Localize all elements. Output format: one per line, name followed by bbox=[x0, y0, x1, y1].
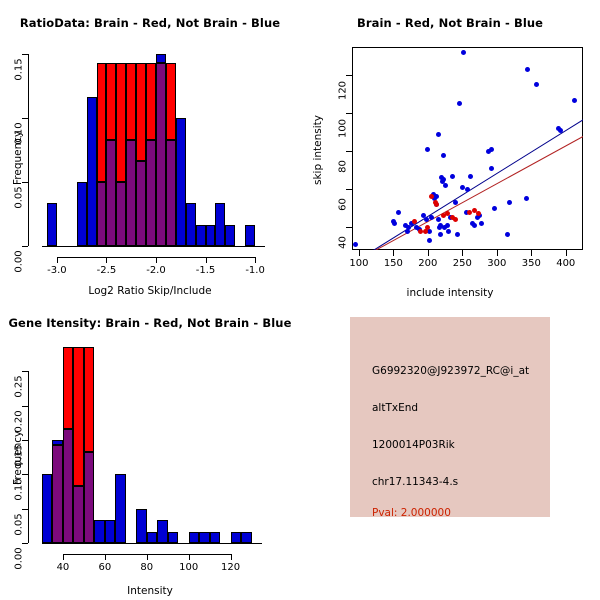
x-tick-label: 100 bbox=[179, 562, 198, 573]
histogram-bar bbox=[116, 63, 126, 182]
histogram-bar bbox=[63, 429, 73, 543]
scatter-point bbox=[479, 221, 484, 226]
scatter-point bbox=[436, 132, 441, 137]
scatter-point bbox=[468, 174, 473, 179]
ratio-histogram-panel: RatioData: Brain - Red, Not Brain - Blue… bbox=[0, 0, 300, 300]
histogram-bar bbox=[105, 520, 115, 543]
histogram-bar bbox=[147, 532, 157, 543]
event-type-text: altTxEnd bbox=[372, 402, 418, 414]
histogram-bar bbox=[126, 140, 136, 246]
y-axis-line bbox=[28, 54, 29, 246]
x-tick bbox=[106, 257, 107, 263]
scatter-point bbox=[441, 177, 446, 182]
x-tick-label: -1.5 bbox=[196, 265, 216, 276]
scatter-point bbox=[445, 223, 450, 228]
y-tick-label: 0.10 bbox=[14, 473, 25, 507]
x-tick bbox=[393, 250, 394, 256]
x-tick bbox=[255, 257, 256, 263]
plot-grid: RatioData: Brain - Red, Not Brain - Blue… bbox=[0, 0, 600, 600]
gene-x-axis-title: Intensity bbox=[0, 585, 300, 597]
histogram-bar bbox=[106, 63, 116, 139]
scatter-point bbox=[427, 238, 432, 243]
histogram-bar bbox=[42, 474, 52, 543]
scatter-point bbox=[443, 183, 448, 188]
y-axis-line bbox=[28, 371, 29, 543]
y-tick-label: 0.00 bbox=[14, 542, 25, 576]
x-tick bbox=[497, 250, 498, 256]
ratio-histogram-title: RatioData: Brain - Red, Not Brain - Blue bbox=[0, 16, 300, 30]
scatter-point bbox=[453, 200, 458, 205]
x-tick-label: 100 bbox=[349, 258, 368, 269]
x-tick bbox=[189, 554, 190, 560]
x-axis-baseline bbox=[42, 543, 262, 544]
gene-symbol-text: 1200014P03Rik bbox=[372, 439, 455, 451]
x-tick-label: 200 bbox=[418, 258, 437, 269]
histogram-bar bbox=[136, 509, 146, 543]
histogram-bar bbox=[215, 203, 225, 246]
x-tick-label: 60 bbox=[98, 562, 111, 573]
histogram-bar bbox=[225, 225, 235, 246]
histogram-bar bbox=[166, 140, 176, 246]
x-tick-label: -2.0 bbox=[146, 265, 166, 276]
scatter-point bbox=[457, 101, 462, 106]
x-tick bbox=[63, 554, 64, 560]
histogram-bar bbox=[168, 532, 178, 543]
histogram-bar bbox=[63, 347, 73, 429]
x-tick-label: 150 bbox=[384, 258, 403, 269]
histogram-bar bbox=[231, 532, 241, 543]
histogram-bar bbox=[115, 474, 125, 543]
gene-histogram-title: Gene Itensity: Brain - Red, Not Brain - … bbox=[0, 316, 300, 330]
x-tick bbox=[428, 250, 429, 256]
histogram-bar bbox=[47, 203, 57, 246]
x-tick-label: 80 bbox=[140, 562, 153, 573]
scatter-point bbox=[425, 225, 430, 230]
y-tick-label: 100 bbox=[338, 112, 349, 146]
histogram-bar bbox=[176, 118, 186, 246]
x-tick bbox=[462, 250, 463, 256]
histogram-bar bbox=[189, 532, 199, 543]
gene-histogram-panel: Gene Itensity: Brain - Red, Not Brain - … bbox=[0, 300, 300, 600]
scatter-point bbox=[392, 221, 397, 226]
scatter-point bbox=[425, 147, 430, 152]
y-tick-label: 0.05 bbox=[14, 181, 25, 215]
x-tick bbox=[57, 257, 58, 263]
histogram-bar bbox=[73, 486, 83, 543]
ratio-x-axis-title: Log2 Ratio Skip/Include bbox=[0, 285, 300, 297]
x-tick-label: -1.0 bbox=[245, 265, 265, 276]
histogram-bar bbox=[199, 532, 209, 543]
histogram-bar bbox=[94, 520, 104, 543]
scatter-point bbox=[446, 229, 451, 234]
scatter-point bbox=[489, 166, 494, 171]
x-tick bbox=[206, 257, 207, 263]
scatter-point bbox=[434, 202, 439, 207]
x-tick-label: -3.0 bbox=[47, 265, 67, 276]
scatter-point bbox=[525, 67, 530, 72]
y-tick-label: 120 bbox=[338, 74, 349, 108]
histogram-bar bbox=[136, 63, 146, 160]
scatter-point bbox=[455, 232, 460, 237]
histogram-bar bbox=[84, 347, 94, 452]
scatter-point bbox=[436, 217, 441, 222]
scatter-point bbox=[524, 196, 529, 201]
scatter-point bbox=[438, 232, 443, 237]
x-axis-baseline bbox=[42, 246, 265, 247]
scatter-point bbox=[441, 153, 446, 158]
x-tick-label: 250 bbox=[453, 258, 472, 269]
histogram-bar bbox=[186, 203, 196, 246]
scatter-point bbox=[505, 232, 510, 237]
y-tick-label: 80 bbox=[338, 150, 349, 184]
locus-text: chr17.11343-4.s bbox=[372, 476, 458, 488]
histogram-bar bbox=[84, 452, 94, 543]
y-tick-label: 40 bbox=[338, 226, 349, 260]
x-tick-label: 350 bbox=[522, 258, 541, 269]
histogram-bar bbox=[136, 161, 146, 246]
y-tick-label: 0.15 bbox=[14, 439, 25, 473]
scatter-point bbox=[434, 194, 439, 199]
x-tick bbox=[231, 554, 232, 560]
scatter-point bbox=[429, 215, 434, 220]
scatter-point bbox=[507, 200, 512, 205]
scatter-point bbox=[450, 174, 455, 179]
scatter-x-axis-title: include intensity bbox=[300, 287, 600, 299]
x-tick-label: 400 bbox=[556, 258, 575, 269]
scatter-point bbox=[453, 217, 458, 222]
histogram-bar bbox=[156, 54, 166, 63]
x-tick bbox=[105, 554, 106, 560]
histogram-bar bbox=[126, 63, 136, 139]
histogram-bar bbox=[156, 63, 166, 246]
gene-info-panel: G6992320@J923972_RC@i_at altTxEnd 120001… bbox=[300, 300, 600, 600]
scatter-y-axis-title: skip intensity bbox=[312, 115, 324, 185]
histogram-bar bbox=[206, 225, 216, 246]
histogram-bar bbox=[106, 140, 116, 246]
histogram-bar bbox=[73, 347, 83, 486]
scatter-point bbox=[489, 147, 494, 152]
histogram-bar bbox=[157, 520, 167, 543]
pval-text: Pval: 2.000000 bbox=[372, 507, 451, 519]
x-tick-label: 300 bbox=[487, 258, 506, 269]
scatter-point bbox=[534, 82, 539, 87]
histogram-bar bbox=[245, 225, 255, 246]
histogram-bar bbox=[166, 63, 176, 139]
x-tick bbox=[156, 257, 157, 263]
y-tick-label: 0.25 bbox=[14, 370, 25, 404]
y-tick-label: 0.10 bbox=[14, 117, 25, 151]
histogram-bar bbox=[77, 182, 87, 246]
scatter-title: Brain - Red, Not Brain - Blue bbox=[300, 16, 600, 30]
scatter-point bbox=[353, 242, 358, 247]
scatter-point bbox=[396, 210, 401, 215]
histogram-bar bbox=[87, 97, 97, 246]
x-tick bbox=[566, 250, 567, 256]
scatter-point bbox=[461, 50, 466, 55]
scatter-point bbox=[472, 223, 477, 228]
scatter-panel: Brain - Red, Not Brain - Blue skip inten… bbox=[300, 0, 600, 300]
y-tick-label: 0.00 bbox=[14, 245, 25, 279]
scatter-point bbox=[492, 206, 497, 211]
x-tick bbox=[531, 250, 532, 256]
x-tick-label: 40 bbox=[57, 562, 70, 573]
scatter-point bbox=[460, 185, 465, 190]
scatter-point bbox=[572, 98, 577, 103]
y-tick-label: 0.15 bbox=[14, 53, 25, 87]
histogram-bar bbox=[146, 63, 156, 139]
probe-id-text: G6992320@J923972_RC@i_at bbox=[372, 365, 529, 377]
scatter-clip bbox=[352, 47, 583, 250]
histogram-bar bbox=[52, 445, 62, 543]
y-tick-label: 60 bbox=[338, 188, 349, 222]
histogram-bar bbox=[241, 532, 251, 543]
x-tick bbox=[147, 554, 148, 560]
x-tick bbox=[359, 250, 360, 256]
histogram-bar bbox=[210, 532, 220, 543]
histogram-bar bbox=[116, 182, 126, 246]
histogram-bar bbox=[196, 225, 206, 246]
histogram-bar bbox=[97, 63, 107, 182]
y-tick-label: 0.05 bbox=[14, 507, 25, 541]
histogram-bar bbox=[146, 140, 156, 246]
x-tick-label: -2.5 bbox=[97, 265, 117, 276]
gene-info-box: G6992320@J923972_RC@i_at altTxEnd 120001… bbox=[350, 317, 550, 517]
histogram-bar bbox=[97, 182, 107, 246]
y-tick-label: 0.20 bbox=[14, 404, 25, 438]
x-tick-label: 120 bbox=[221, 562, 240, 573]
